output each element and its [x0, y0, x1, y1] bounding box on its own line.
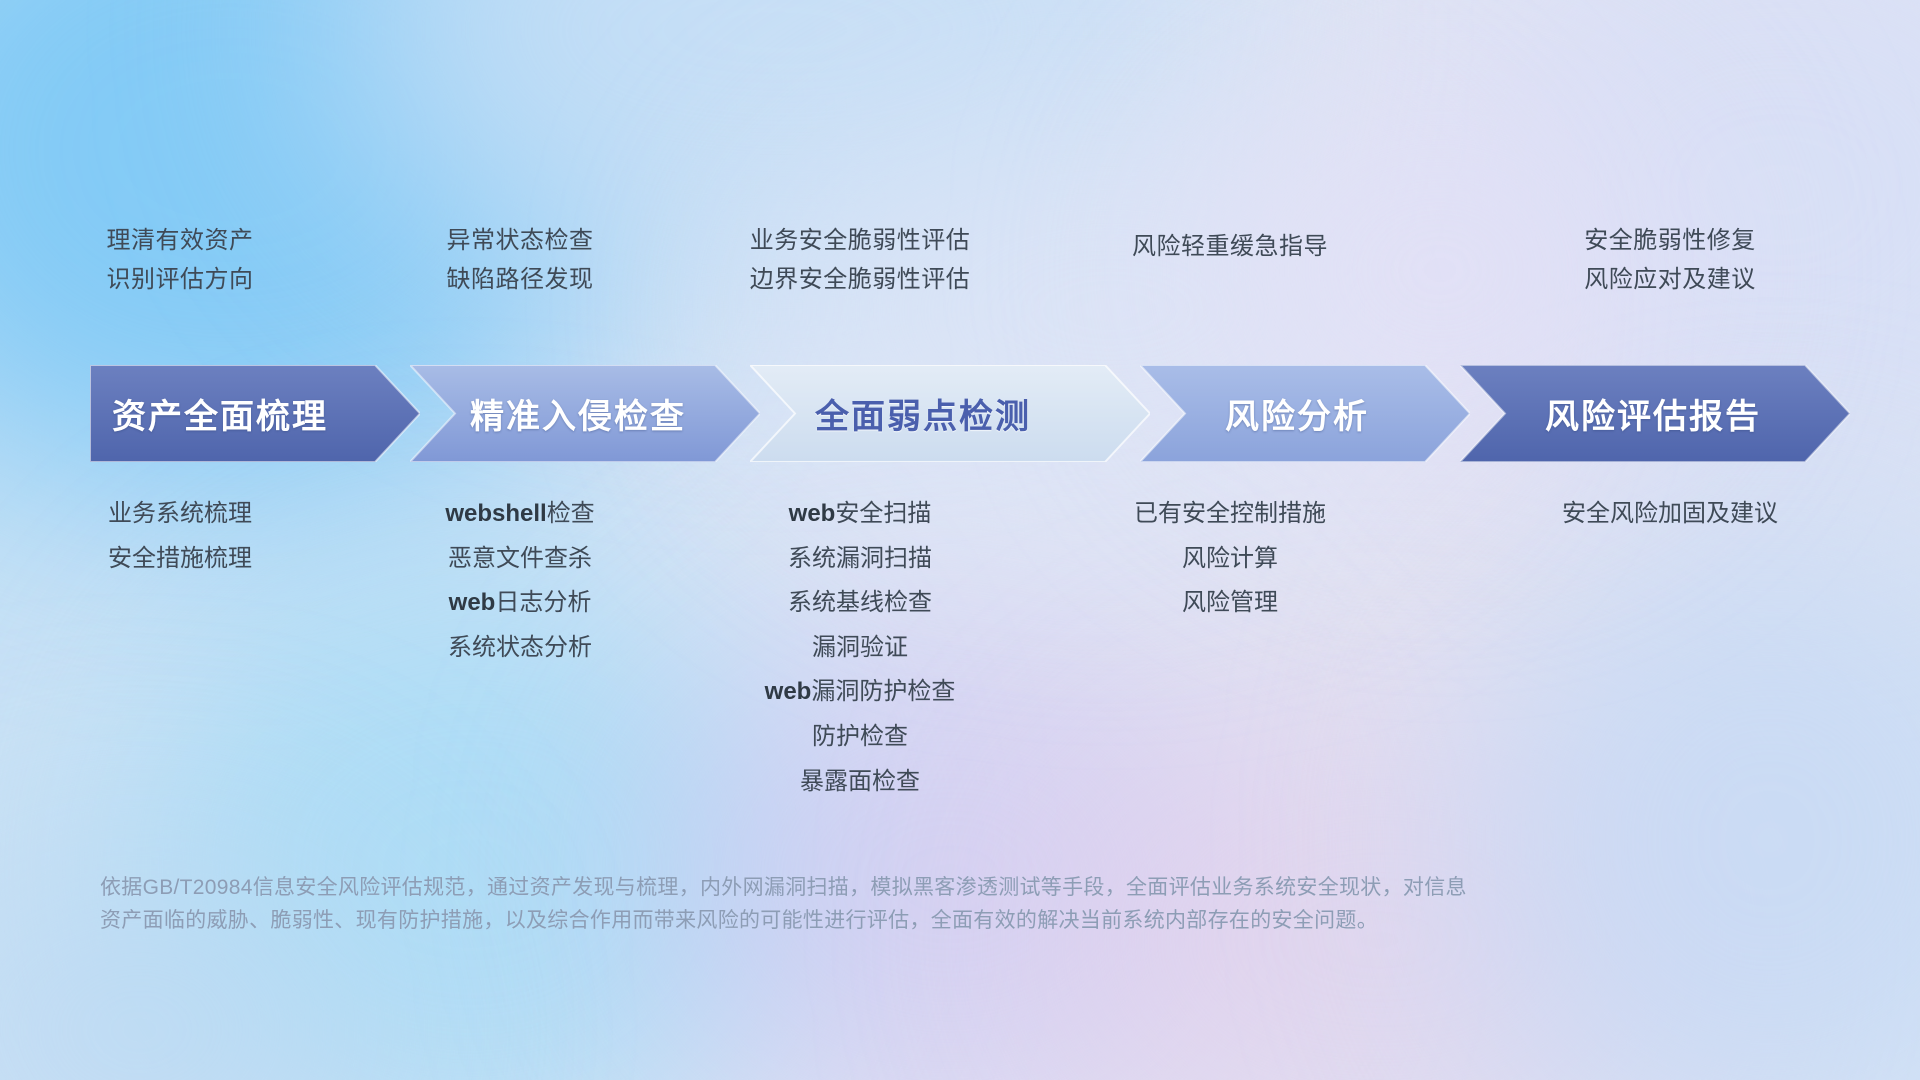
list-item: web漏洞防护检查 — [765, 678, 956, 706]
list-item: 业务系统梳理 — [108, 500, 252, 528]
top-caption-line: 异常状态检查 — [447, 228, 594, 254]
top-caption-cell: 异常状态检查 缺陷路径发现 — [360, 228, 680, 338]
item-prefix: web — [789, 500, 836, 527]
list-item: 已有安全控制措施 — [1134, 500, 1326, 528]
list-item: 漏洞验证 — [812, 634, 908, 662]
top-caption-line: 边界安全脆弱性评估 — [750, 267, 971, 293]
stage-arrow-3[interactable]: 全面弱点检测 — [750, 365, 1150, 462]
stage-arrow-1[interactable]: 资产全面梳理 — [90, 365, 420, 462]
footer-line-1: 依据GB/T20984信息安全风险评估规范，通过资产发现与梳理，内外网漏洞扫描，… — [100, 872, 1730, 905]
top-caption-cell: 风险轻重缓急指导 — [1040, 228, 1420, 338]
top-caption-line: 理清有效资产 — [107, 228, 254, 254]
item-text: 安全风险加固及建议 — [1562, 500, 1778, 527]
top-caption-line: 缺陷路径发现 — [447, 267, 594, 293]
item-text: 日志分析 — [495, 589, 591, 616]
stage-arrow-5[interactable]: 风险评估报告 — [1460, 365, 1850, 462]
stage-title: 资产全面梳理 — [112, 389, 328, 438]
list-item: 安全风险加固及建议 — [1562, 500, 1778, 528]
detail-cell-4: 已有安全控制措施 风险计算 风险管理 — [1040, 500, 1420, 795]
list-item: 系统漏洞扫描 — [788, 545, 932, 573]
process-arrow-band: 资产全面梳理 精准入侵检查 — [0, 365, 1920, 462]
list-item: web安全扫描 — [789, 500, 932, 528]
item-prefix: web — [449, 589, 496, 616]
item-text: 系统漏洞扫描 — [788, 545, 932, 572]
list-item: web日志分析 — [449, 589, 592, 617]
stage-title: 全面弱点检测 — [815, 389, 1031, 438]
list-item: 安全措施梳理 — [108, 545, 252, 573]
item-text: 安全措施梳理 — [108, 545, 252, 572]
footer-description: 依据GB/T20984信息安全风险评估规范，通过资产发现与梳理，内外网漏洞扫描，… — [100, 872, 1730, 937]
list-item: webshell检查 — [445, 500, 594, 528]
item-text: 风险计算 — [1182, 545, 1278, 572]
bottom-detail-row: 业务系统梳理 安全措施梳理 webshell检查 恶意文件查杀 web日志分析 … — [0, 500, 1920, 795]
top-caption-row: 理清有效资产 识别评估方向 异常状态检查 缺陷路径发现 业务安全脆弱性评估 边界… — [0, 228, 1920, 338]
detail-cell-3: web安全扫描 系统漏洞扫描 系统基线检查 漏洞验证 web漏洞防护检查 防护检… — [680, 500, 1040, 795]
list-item: 系统状态分析 — [448, 634, 592, 662]
item-text: 恶意文件查杀 — [448, 545, 592, 572]
stage-title: 风险评估报告 — [1545, 389, 1761, 438]
list-item: 防护检查 — [812, 723, 908, 751]
stage-arrow-4[interactable]: 风险分析 — [1140, 365, 1470, 462]
item-text: 业务系统梳理 — [108, 500, 252, 527]
detail-cell-5: 安全风险加固及建议 — [1420, 500, 1920, 795]
item-text: 已有安全控制措施 — [1134, 500, 1326, 527]
list-item: 暴露面检查 — [800, 768, 920, 796]
top-caption-line: 业务安全脆弱性评估 — [750, 228, 971, 254]
item-prefix: webshell — [445, 500, 546, 527]
list-item: 风险管理 — [1182, 589, 1278, 617]
top-caption-line: 安全脆弱性修复 — [1584, 228, 1756, 254]
stage-title: 精准入侵检查 — [470, 389, 686, 438]
list-item: 风险计算 — [1182, 545, 1278, 573]
detail-cell-1: 业务系统梳理 安全措施梳理 — [0, 500, 360, 795]
item-text: 检查 — [547, 500, 595, 527]
item-text: 安全扫描 — [835, 500, 931, 527]
footer-line-2: 资产面临的威胁、脆弱性、现有防护措施，以及综合作用而带来风险的可能性进行评估，全… — [100, 905, 1730, 938]
detail-cell-2: webshell检查 恶意文件查杀 web日志分析 系统状态分析 — [360, 500, 680, 795]
item-prefix: web — [765, 678, 812, 705]
item-text: 漏洞防护检查 — [811, 678, 955, 705]
item-text: 风险管理 — [1182, 589, 1278, 616]
item-text: 防护检查 — [812, 723, 908, 750]
item-text: 暴露面检查 — [800, 768, 920, 795]
top-caption-line: 识别评估方向 — [107, 267, 254, 293]
top-caption-cell: 理清有效资产 识别评估方向 — [0, 228, 360, 338]
item-text: 漏洞验证 — [812, 634, 908, 661]
stage-title: 风险分析 — [1225, 389, 1369, 438]
stage-arrow-2[interactable]: 精准入侵检查 — [410, 365, 760, 462]
top-caption-line: 风险应对及建议 — [1584, 267, 1756, 293]
top-caption-cell: 安全脆弱性修复 风险应对及建议 — [1420, 228, 1920, 338]
item-text: 系统状态分析 — [448, 634, 592, 661]
top-caption-cell: 业务安全脆弱性评估 边界安全脆弱性评估 — [680, 228, 1040, 338]
list-item: 系统基线检查 — [788, 589, 932, 617]
list-item: 恶意文件查杀 — [448, 545, 592, 573]
top-caption-line: 风险轻重缓急指导 — [1132, 234, 1328, 260]
item-text: 系统基线检查 — [788, 589, 932, 616]
